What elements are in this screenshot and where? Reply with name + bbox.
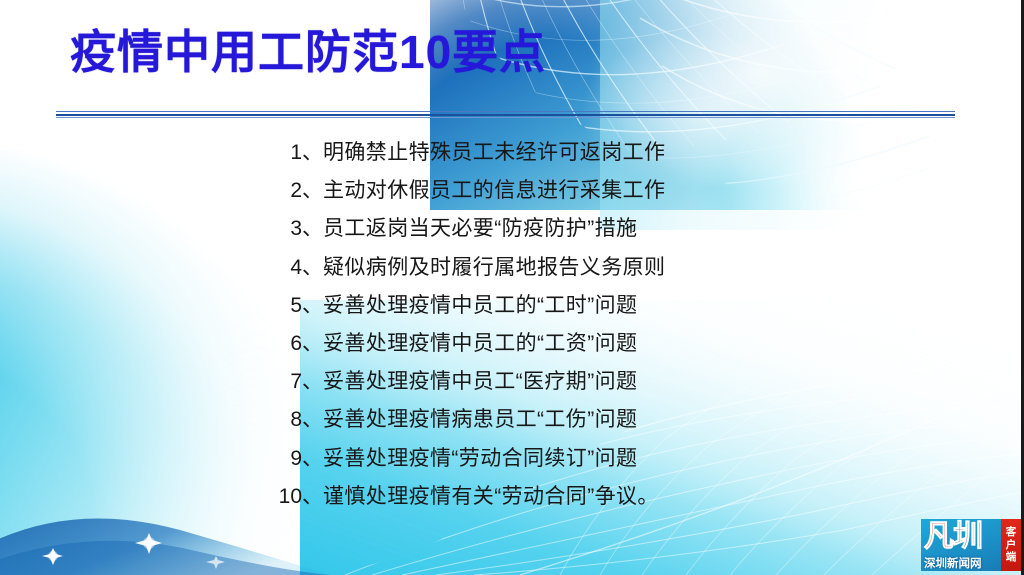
list-item: 3 、 员工返岗当天必要“防疫防护”措施 [262, 212, 782, 250]
title-divider [56, 111, 955, 118]
list-item-separator: 、 [302, 327, 323, 357]
list-item-number: 10 [262, 485, 302, 509]
list-item-number: 6 [262, 332, 302, 356]
list-item-number: 1 [262, 141, 302, 165]
list-item-separator: 、 [302, 289, 323, 319]
logo-app-badge: 客 户 端 [1001, 519, 1021, 571]
logo-badge-char-1: 客 [1006, 526, 1017, 539]
list-item-number: 3 [262, 217, 302, 241]
list-item: 9 、 妥善处理疫情“劳动合同续订”问题 [262, 442, 782, 480]
list-item-label: 妥善处理疫情病患员工“工伤”问题 [323, 403, 637, 433]
presentation-slide: 疫情中用工防范10要点 1 、 明确禁止特殊员工未经许可返岗工作 2 、 主动对… [0, 0, 1024, 575]
list-item-label: 妥善处理疫情中员工的“工资”问题 [323, 327, 637, 357]
list-item-number: 9 [262, 447, 302, 471]
list-item-label: 妥善处理疫情中员工的“工时”问题 [323, 289, 637, 319]
list-item: 7 、 妥善处理疫情中员工“医疗期”问题 [262, 365, 782, 403]
logo-char-red: 凡 [924, 522, 953, 552]
divider-line-top [56, 111, 955, 112]
list-item: 5 、 妥善处理疫情中员工的“工时”问题 [262, 289, 782, 327]
divider-line-bottom [56, 117, 955, 118]
list-item-label: 员工返岗当天必要“防疫防护”措施 [323, 212, 637, 242]
logo-char-blue: 圳 [953, 522, 982, 552]
list-item-separator: 、 [302, 174, 323, 204]
bullet-list: 1 、 明确禁止特殊员工未经许可返岗工作 2 、 主动对休假员工的信息进行采集工… [262, 136, 782, 518]
list-item-label: 妥善处理疫情“劳动合同续订”问题 [323, 442, 637, 472]
logo-wordmark: 凡 圳 [924, 522, 999, 552]
logo-badge-char-3: 端 [1006, 551, 1017, 564]
list-item-separator: 、 [302, 480, 323, 510]
list-item-separator: 、 [302, 136, 323, 166]
list-item-separator: 、 [302, 251, 323, 281]
list-item: 4 、 疑似病例及时履行属地报告义务原则 [262, 251, 782, 289]
logo-site-name: 深圳新闻网 [924, 558, 999, 571]
list-item-separator: 、 [302, 403, 323, 433]
list-item-label: 妥善处理疫情中员工“医疗期”问题 [323, 365, 637, 395]
watermark-logo: 凡 圳 深圳新闻网 客 户 端 [921, 519, 1021, 571]
list-item: 1 、 明确禁止特殊员工未经许可返岗工作 [262, 136, 782, 174]
list-item: 6 、 妥善处理疫情中员工的“工资”问题 [262, 327, 782, 365]
list-item-label: 疑似病例及时履行属地报告义务原则 [323, 251, 665, 281]
list-item-separator: 、 [302, 365, 323, 395]
list-item-separator: 、 [302, 212, 323, 242]
slide-title: 疫情中用工防范10要点 [70, 28, 546, 78]
list-item: 2 、 主动对休假员工的信息进行采集工作 [262, 174, 782, 212]
logo-badge-char-2: 户 [1006, 539, 1017, 552]
list-item: 8 、 妥善处理疫情病患员工“工伤”问题 [262, 403, 782, 441]
list-item-number: 5 [262, 294, 302, 318]
list-item-number: 7 [262, 370, 302, 394]
list-item-number: 4 [262, 256, 302, 280]
list-item: 10 、 谨慎处理疫情有关“劳动合同”争议。 [262, 480, 782, 518]
list-item-label: 明确禁止特殊员工未经许可返岗工作 [323, 136, 665, 166]
list-item-number: 8 [262, 408, 302, 432]
list-item-label: 谨慎处理疫情有关“劳动合同”争议。 [323, 480, 659, 510]
divider-line-middle [56, 114, 955, 116]
list-item-number: 2 [262, 179, 302, 203]
logo-main: 凡 圳 深圳新闻网 [921, 519, 1001, 571]
list-item-label: 主动对休假员工的信息进行采集工作 [323, 174, 665, 204]
list-item-separator: 、 [302, 442, 323, 472]
